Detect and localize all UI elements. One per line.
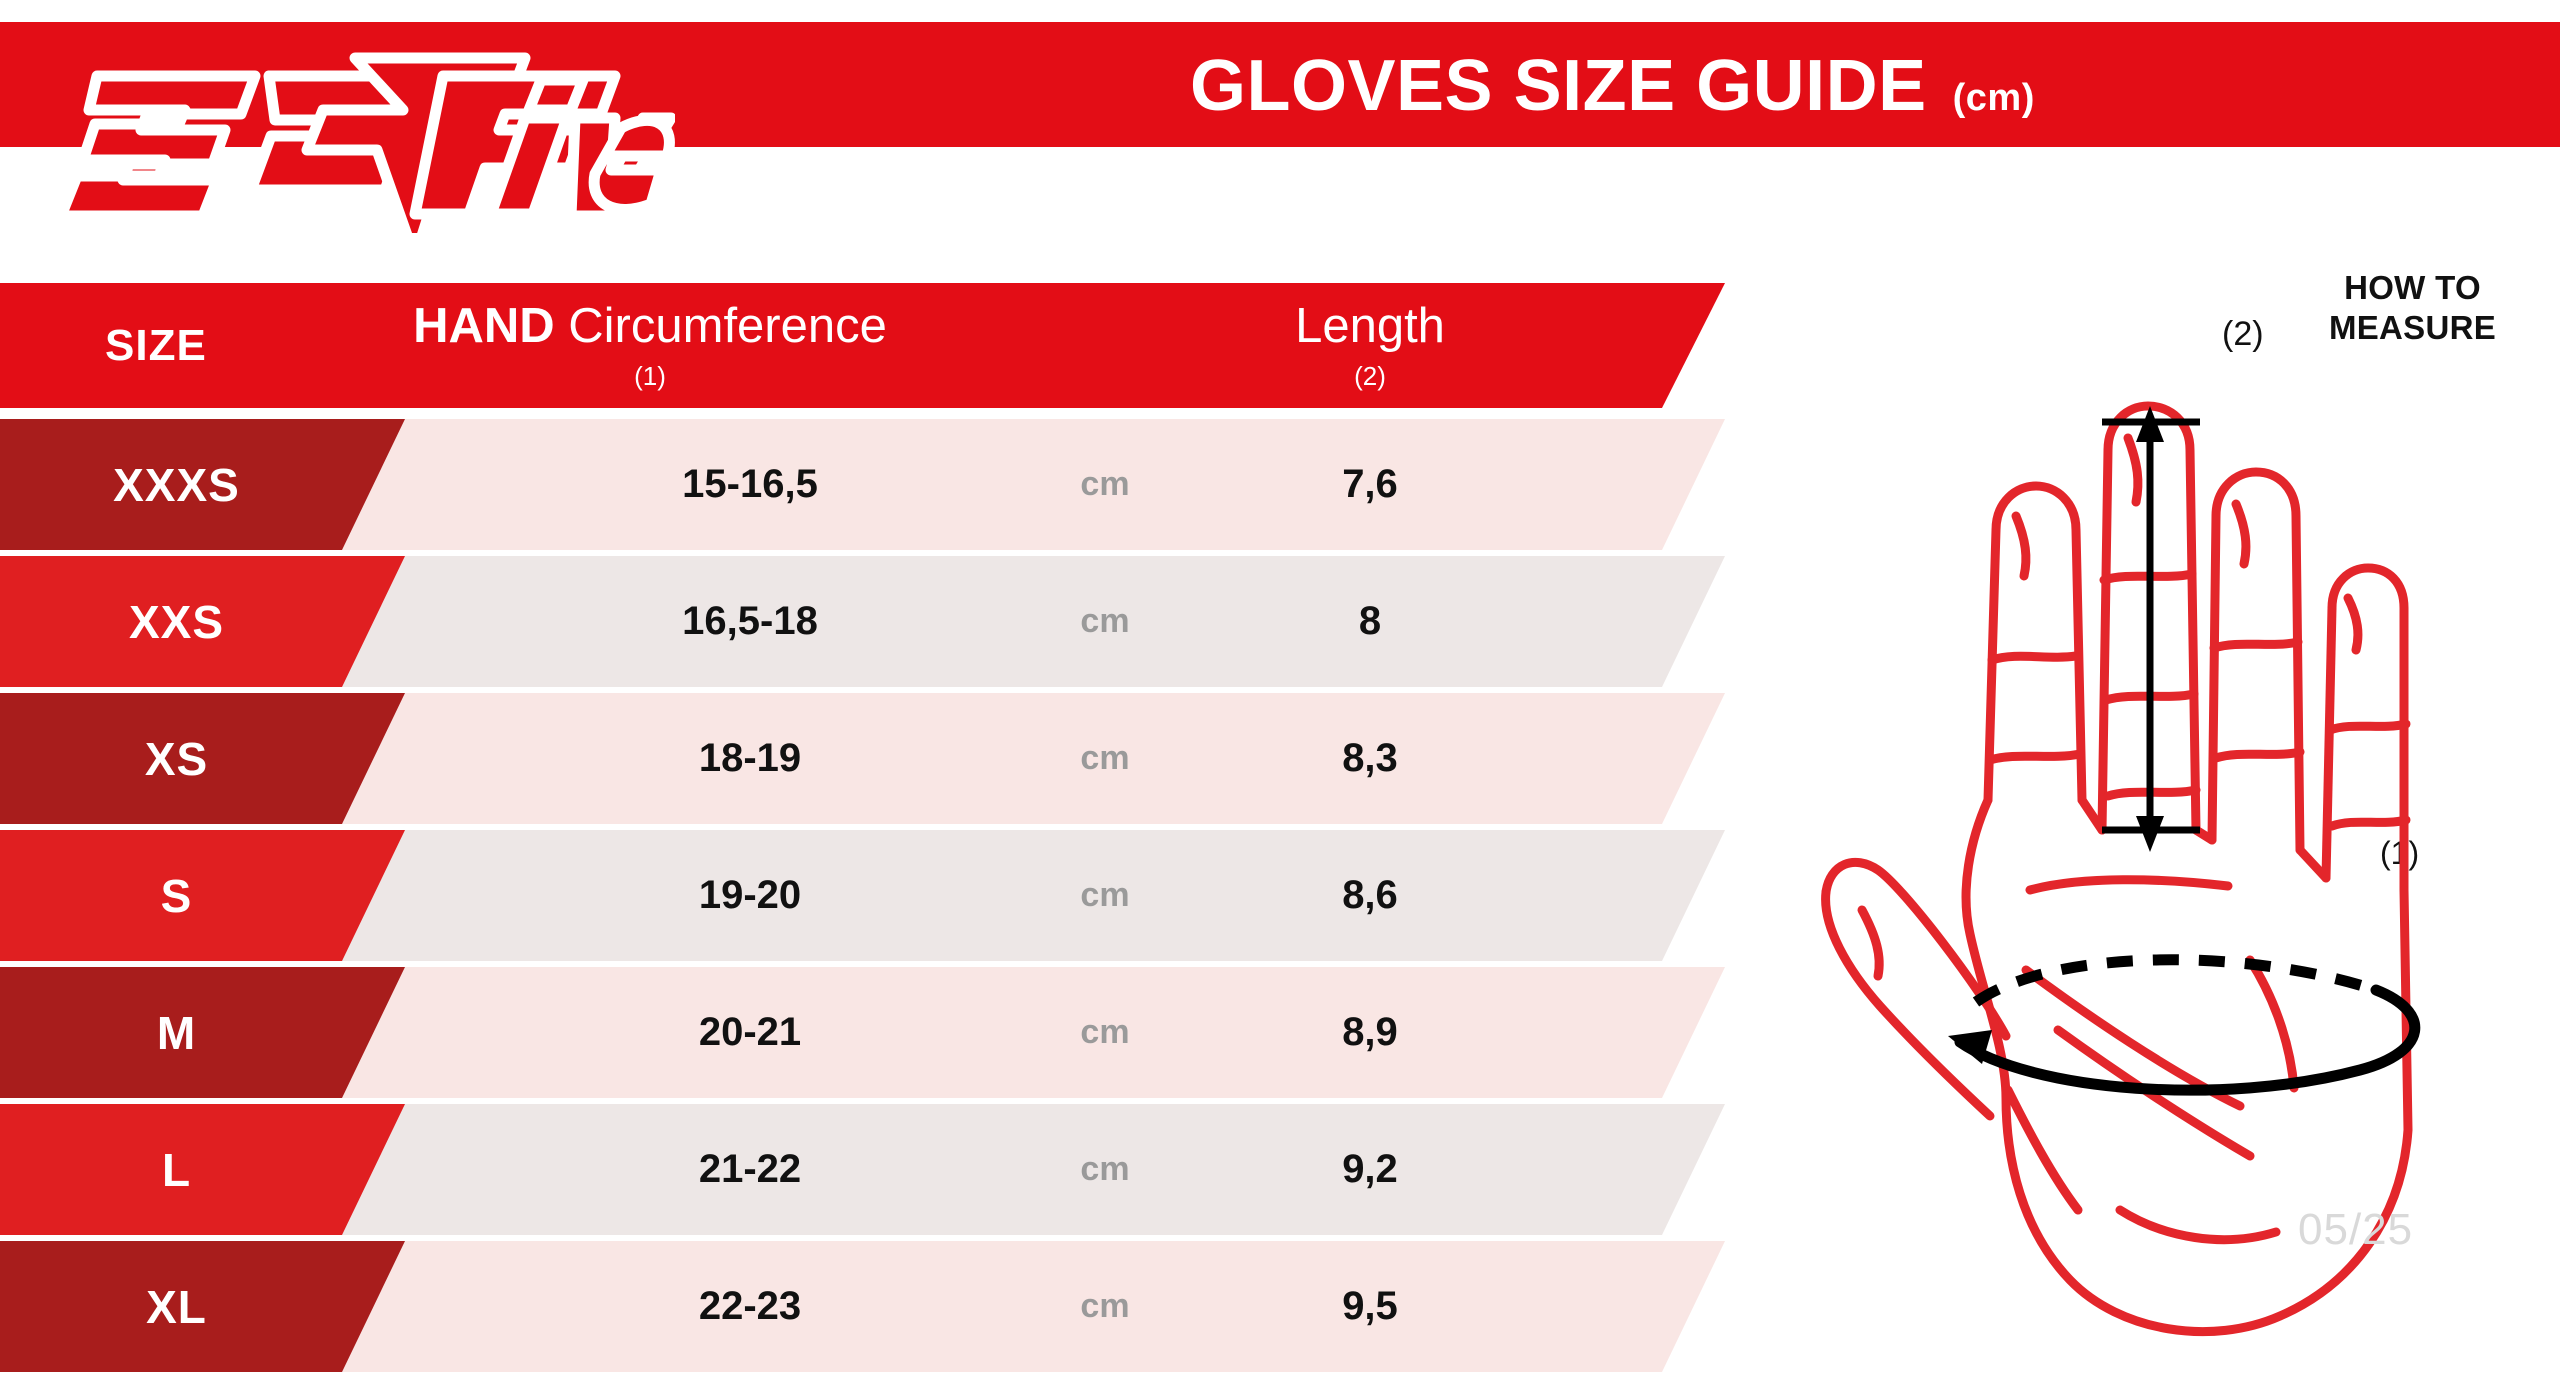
table-row: S 19-20 cm 8,6 — [0, 830, 1760, 961]
page-title-unit: (cm) — [1953, 77, 2035, 120]
date-watermark: 05/25 — [2298, 1205, 2413, 1255]
circumference-value: 16,5-18 — [530, 556, 970, 687]
size-tab: XS — [0, 693, 405, 824]
length-value: 9,5 — [1205, 1241, 1535, 1372]
table-header-row: SIZE HAND Circumference (1) Length (2) — [0, 283, 1760, 408]
column-header-circumference-note: (1) — [634, 363, 666, 389]
length-value: 8,9 — [1205, 967, 1535, 1098]
circumference-value: 18-19 — [530, 693, 970, 824]
size-label: S — [161, 869, 193, 923]
size-tab: L — [0, 1104, 405, 1235]
size-label: XXS — [129, 595, 224, 649]
table-row: XXXS 15-16,5 cm 7,6 — [0, 419, 1760, 550]
unit-label: cm — [1040, 556, 1170, 687]
unit-label: cm — [1040, 1104, 1170, 1235]
size-label: L — [162, 1143, 191, 1197]
circumference-value: 22-23 — [530, 1241, 970, 1372]
table-row: XXS 16,5-18 cm 8 — [0, 556, 1760, 687]
table-row: XL 22-23 cm 9,5 — [0, 1241, 1760, 1372]
length-value: 9,2 — [1205, 1104, 1535, 1235]
hand-diagram — [1820, 330, 2560, 1350]
length-value: 8,6 — [1205, 830, 1535, 961]
column-header-circumference-regular: Circumference — [568, 299, 887, 353]
logo-32five-icon — [55, 18, 675, 233]
circumference-dashed-path-icon — [1976, 960, 2376, 1002]
column-header-length: Length (2) — [1195, 283, 1545, 408]
size-tab: M — [0, 967, 405, 1098]
unit-label: cm — [1040, 693, 1170, 824]
column-header-circumference: HAND Circumference (1) — [330, 283, 970, 408]
circumference-value: 21-22 — [530, 1104, 970, 1235]
size-label: M — [157, 1006, 196, 1060]
page-title: GLOVES SIZE GUIDE (cm) — [1190, 45, 2370, 127]
column-header-size: SIZE — [105, 283, 207, 408]
table-row: M 20-21 cm 8,9 — [0, 967, 1760, 1098]
how-to-measure-line1: HOW TO — [2305, 268, 2520, 308]
size-tab: XXXS — [0, 419, 405, 550]
page-title-text: GLOVES SIZE GUIDE — [1190, 45, 1927, 127]
size-label: XS — [145, 732, 208, 786]
circumference-value: 15-16,5 — [530, 419, 970, 550]
brand-logo — [55, 18, 675, 233]
size-table: SIZE HAND Circumference (1) Length (2) X… — [0, 283, 1760, 1378]
arrow-head-down-icon — [2136, 816, 2164, 852]
size-label: XL — [146, 1280, 207, 1334]
circumference-value: 19-20 — [530, 830, 970, 961]
column-header-length-text: Length — [1295, 302, 1445, 351]
size-tab: XXS — [0, 556, 405, 687]
circumference-value: 20-21 — [530, 967, 970, 1098]
length-value: 8,3 — [1205, 693, 1535, 824]
length-value: 8 — [1205, 556, 1535, 687]
length-value: 7,6 — [1205, 419, 1535, 550]
column-header-circumference-bold: HAND — [413, 299, 555, 353]
unit-label: cm — [1040, 967, 1170, 1098]
table-row: XS 18-19 cm 8,3 — [0, 693, 1760, 824]
hand-illustration-icon — [1820, 330, 2560, 1350]
column-header-length-note: (2) — [1354, 363, 1386, 389]
size-label: XXXS — [113, 458, 240, 512]
unit-label: cm — [1040, 419, 1170, 550]
size-tab: S — [0, 830, 405, 961]
length-arrow-icon — [2102, 422, 2200, 840]
size-tab: XL — [0, 1241, 405, 1372]
unit-label: cm — [1040, 830, 1170, 961]
unit-label: cm — [1040, 1241, 1170, 1372]
table-row: L 21-22 cm 9,2 — [0, 1104, 1760, 1235]
